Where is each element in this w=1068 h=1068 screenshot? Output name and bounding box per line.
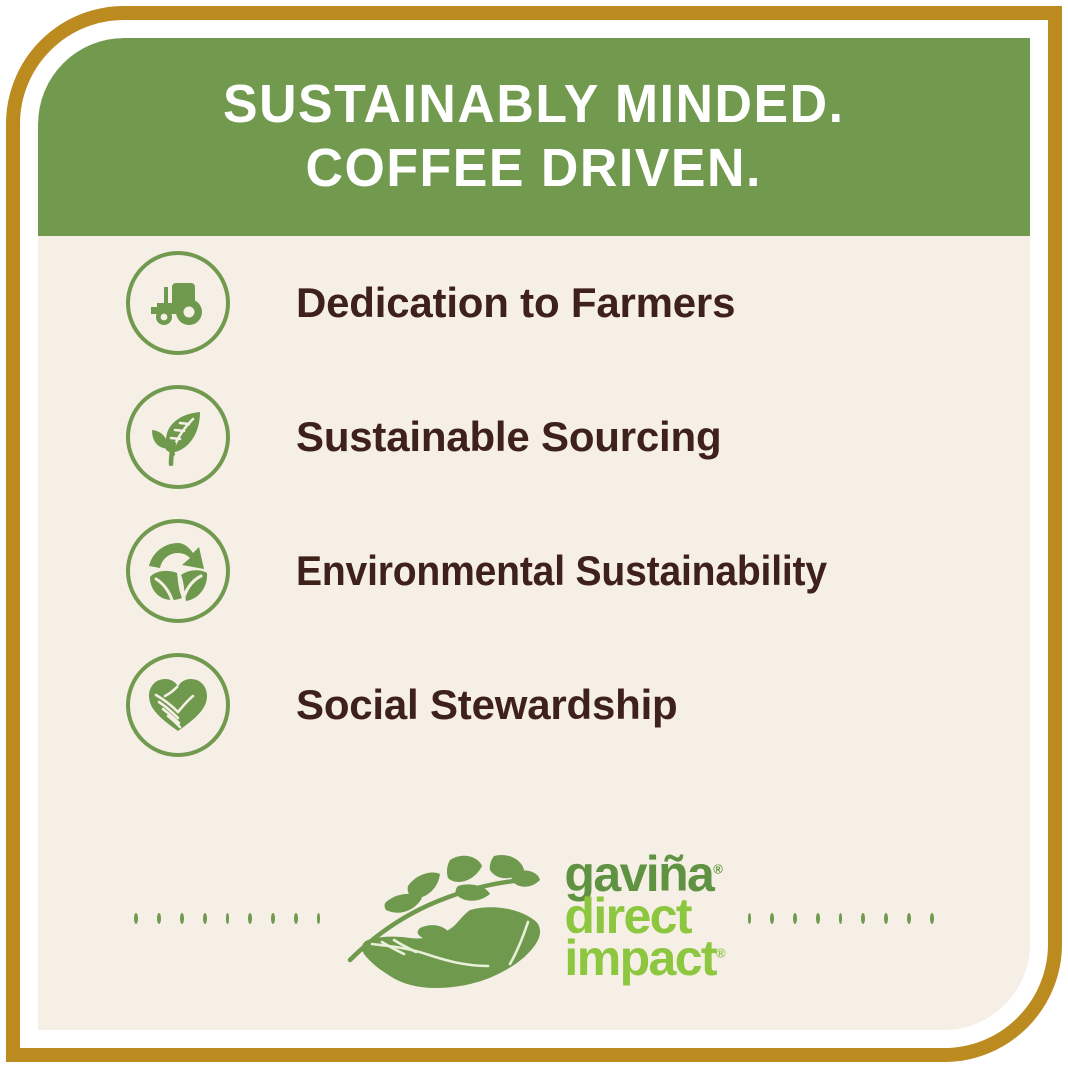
dot: [770, 913, 774, 924]
recycle-leaves-icon: [126, 519, 230, 623]
dot: [907, 913, 911, 924]
dot: [203, 913, 207, 924]
dotted-rule-left: [134, 913, 320, 924]
wordmark-line-impact: impact®: [564, 937, 725, 979]
dot: [930, 913, 934, 924]
hand-holding-branch-icon: [342, 842, 554, 994]
gavina-direct-impact-logo: gaviña® direct impact®: [342, 842, 725, 994]
feature-label-sustainable-sourcing: Sustainable Sourcing: [296, 413, 721, 461]
heart-hands-icon: [126, 653, 230, 757]
footer-logo-area: gaviña® direct impact®: [38, 806, 1030, 1030]
dot: [226, 913, 230, 924]
dot: [248, 913, 252, 924]
dot: [157, 913, 161, 924]
dot: [748, 913, 752, 924]
dot: [861, 913, 865, 924]
dot: [134, 913, 138, 924]
dot: [271, 913, 275, 924]
dotted-rule-right: [748, 913, 934, 924]
dot: [317, 913, 321, 924]
dot: [294, 913, 298, 924]
dot: [793, 913, 797, 924]
feature-label-environmental-sustainability: Environmental Sustainability: [296, 547, 827, 595]
feature-row-environmental-sustainability: Environmental Sustainability: [38, 504, 1030, 638]
dot: [816, 913, 820, 924]
feature-row-social-stewardship: Social Stewardship: [38, 638, 1030, 772]
dot: [839, 913, 843, 924]
gavina-wordmark: gaviña® direct impact®: [564, 853, 725, 983]
registered-mark-gavina: ®: [713, 861, 723, 876]
registered-mark-impact: ®: [716, 945, 726, 960]
header-title-line-2: COFFEE DRIVEN.: [306, 137, 762, 201]
content-card: SUSTAINABLY MINDED. COFFEE DRIVEN.: [38, 38, 1030, 1030]
dot: [884, 913, 888, 924]
feature-row-dedication-to-farmers: Dedication to Farmers: [38, 236, 1030, 370]
header-banner: SUSTAINABLY MINDED. COFFEE DRIVEN.: [38, 38, 1030, 236]
poster-frame: SUSTAINABLY MINDED. COFFEE DRIVEN.: [0, 0, 1068, 1068]
two-leaves-icon: [126, 385, 230, 489]
feature-row-sustainable-sourcing: Sustainable Sourcing: [38, 370, 1030, 504]
feature-label-dedication-to-farmers: Dedication to Farmers: [296, 279, 735, 327]
tractor-icon: [126, 251, 230, 355]
feature-label-social-stewardship: Social Stewardship: [296, 681, 678, 729]
dot: [180, 913, 184, 924]
header-title-line-1: SUSTAINABLY MINDED.: [223, 73, 845, 137]
feature-list: Dedication to Farmers: [38, 236, 1030, 772]
